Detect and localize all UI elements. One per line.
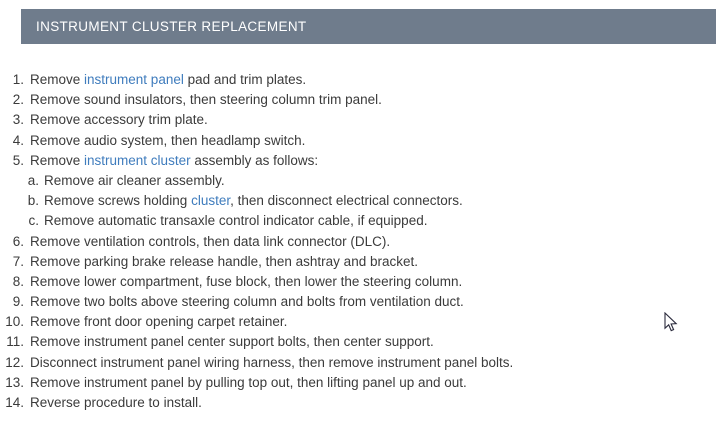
step-marker: a. — [0, 171, 44, 191]
step-text: Remove two bolts above steering column a… — [30, 292, 464, 312]
page-title: INSTRUMENT CLUSTER REPLACEMENT — [21, 19, 307, 34]
step-text: Remove instrument panel pad and trim pla… — [30, 70, 306, 90]
procedure-step-row: 6.Remove ventilation controls, then data… — [0, 232, 716, 252]
procedure-step-row: 10.Remove front door opening carpet reta… — [0, 312, 716, 332]
step-text: Remove lower compartment, fuse block, th… — [30, 272, 462, 292]
procedure-step-row: 11.Remove instrument panel center suppor… — [0, 332, 716, 352]
procedure-step-row: 3.Remove accessory trim plate. — [0, 110, 716, 130]
step-text-fragment: assembly as follows: — [191, 153, 319, 168]
step-marker: 5. — [0, 151, 30, 171]
step-text-fragment: Remove parking brake release handle, the… — [30, 254, 418, 269]
step-text: Remove instrument cluster assembly as fo… — [30, 151, 318, 171]
step-text: Remove screws holding cluster, then disc… — [44, 191, 463, 211]
step-text: Remove sound insulators, then steering c… — [30, 90, 382, 110]
step-marker: 11. — [0, 332, 30, 352]
step-text-fragment: Remove sound insulators, then steering c… — [30, 92, 382, 107]
step-text-fragment: Remove front door opening carpet retaine… — [30, 314, 287, 329]
step-marker: 6. — [0, 232, 30, 252]
procedure-step-list: 1.Remove instrument panel pad and trim p… — [0, 70, 716, 413]
procedure-step-row: 1.Remove instrument panel pad and trim p… — [0, 70, 716, 90]
step-text-fragment: Remove — [30, 153, 84, 168]
step-text-fragment: Disconnect instrument panel wiring harne… — [30, 355, 513, 370]
step-marker: b. — [0, 191, 44, 211]
procedure-step-row: 12.Disconnect instrument panel wiring ha… — [0, 353, 716, 373]
procedure-step-row: 9.Remove two bolts above steering column… — [0, 292, 716, 312]
procedure-substep-row: b.Remove screws holding cluster, then di… — [0, 191, 716, 211]
step-marker: 8. — [0, 272, 30, 292]
step-text-fragment: pad and trim plates. — [184, 72, 306, 87]
procedure-substep-row: a.Remove air cleaner assembly. — [0, 171, 716, 191]
step-marker: 3. — [0, 110, 30, 130]
step-text: Reverse procedure to install. — [30, 393, 202, 413]
step-text: Remove air cleaner assembly. — [44, 171, 225, 191]
step-text: Remove front door opening carpet retaine… — [30, 312, 287, 332]
step-text-fragment: Remove audio system, then headlamp switc… — [30, 133, 305, 148]
step-marker: 10. — [0, 312, 30, 332]
step-text: Remove audio system, then headlamp switc… — [30, 131, 305, 151]
step-marker: 13. — [0, 373, 30, 393]
step-marker: 7. — [0, 252, 30, 272]
procedure-step-row: 8.Remove lower compartment, fuse block, … — [0, 272, 716, 292]
inline-link[interactable]: cluster — [191, 193, 230, 208]
step-marker: c. — [0, 211, 44, 231]
inline-link[interactable]: instrument cluster — [84, 153, 191, 168]
procedure-step-row: 14.Reverse procedure to install. — [0, 393, 716, 413]
step-text: Remove instrument panel by pulling top o… — [30, 373, 467, 393]
step-marker: 9. — [0, 292, 30, 312]
step-text-fragment: Remove screws holding — [44, 193, 191, 208]
procedure-step-row: 2.Remove sound insulators, then steering… — [0, 90, 716, 110]
step-text-fragment: Remove lower compartment, fuse block, th… — [30, 274, 462, 289]
procedure-step-row: 7.Remove parking brake release handle, t… — [0, 252, 716, 272]
step-marker: 1. — [0, 70, 30, 90]
step-text-fragment: Remove two bolts above steering column a… — [30, 294, 464, 309]
step-marker: 2. — [0, 90, 30, 110]
step-text: Disconnect instrument panel wiring harne… — [30, 353, 513, 373]
step-text-fragment: , then disconnect electrical connectors. — [230, 193, 463, 208]
procedure-step-row: 4.Remove audio system, then headlamp swi… — [0, 131, 716, 151]
step-text: Remove instrument panel center support b… — [30, 332, 434, 352]
step-text: Remove ventilation controls, then data l… — [30, 232, 390, 252]
inline-link[interactable]: instrument panel — [84, 72, 184, 87]
procedure-step-row: 13.Remove instrument panel by pulling to… — [0, 373, 716, 393]
step-text-fragment: Remove instrument panel center support b… — [30, 334, 434, 349]
step-text-fragment: Remove automatic transaxle control indic… — [44, 213, 427, 228]
step-marker: 14. — [0, 393, 30, 413]
step-text: Remove parking brake release handle, the… — [30, 252, 418, 272]
procedure-step-row: 5.Remove instrument cluster assembly as … — [0, 151, 716, 171]
procedure-substep-row: c.Remove automatic transaxle control ind… — [0, 211, 716, 231]
step-text-fragment: Remove air cleaner assembly. — [44, 173, 225, 188]
step-text-fragment: Remove instrument panel by pulling top o… — [30, 375, 467, 390]
step-marker: 12. — [0, 353, 30, 373]
step-text-fragment: Remove ventilation controls, then data l… — [30, 234, 390, 249]
step-text-fragment: Remove accessory trim plate. — [30, 112, 208, 127]
step-text: Remove accessory trim plate. — [30, 110, 208, 130]
section-header-bar: INSTRUMENT CLUSTER REPLACEMENT — [21, 9, 716, 44]
step-text-fragment: Remove — [30, 72, 84, 87]
step-text-fragment: Reverse procedure to install. — [30, 395, 202, 410]
step-text: Remove automatic transaxle control indic… — [44, 211, 427, 231]
step-marker: 4. — [0, 131, 30, 151]
